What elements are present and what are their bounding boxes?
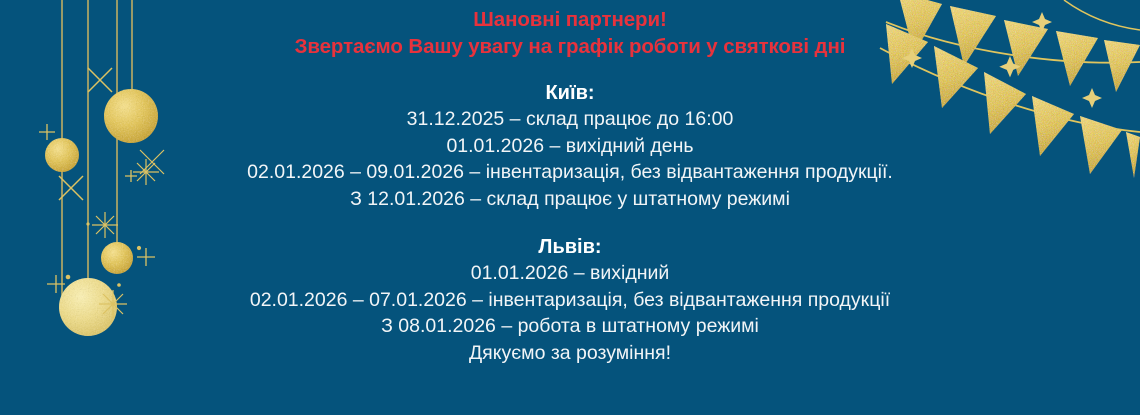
lviv-line-3: З 08.01.2026 – робота в штатному режимі (250, 313, 890, 340)
city-block-lviv: Львів: 01.01.2026 – вихідний 02.01.2026 … (250, 234, 890, 366)
kyiv-line-2: 01.01.2026 – вихідний день (247, 133, 893, 160)
kyiv-line-4: З 12.01.2026 – склад працює у штатному р… (247, 186, 893, 213)
holiday-schedule-banner: Шановні партнери! Звертаємо Вашу увагу н… (0, 0, 1140, 415)
headline: Шановні партнери! Звертаємо Вашу увагу н… (295, 6, 846, 60)
city-name-lviv: Львів: (250, 234, 890, 260)
banner-content: Шановні партнери! Звертаємо Вашу увагу н… (0, 0, 1140, 415)
headline-line-1: Шановні партнери! (295, 6, 846, 33)
kyiv-line-1: 31.12.2025 – склад працює до 16:00 (247, 106, 893, 133)
city-block-kyiv: Київ: 31.12.2025 – склад працює до 16:00… (247, 80, 893, 212)
headline-line-2: Звертаємо Вашу увагу на графік роботи у … (295, 33, 846, 60)
lviv-line-1: 01.01.2026 – вихідний (250, 260, 890, 287)
city-name-kyiv: Київ: (247, 80, 893, 106)
lviv-thanks: Дякуємо за розуміння! (250, 340, 890, 367)
kyiv-line-3: 02.01.2026 – 09.01.2026 – інвентаризація… (247, 159, 893, 186)
lviv-line-2: 02.01.2026 – 07.01.2026 – інвентаризація… (250, 287, 890, 314)
